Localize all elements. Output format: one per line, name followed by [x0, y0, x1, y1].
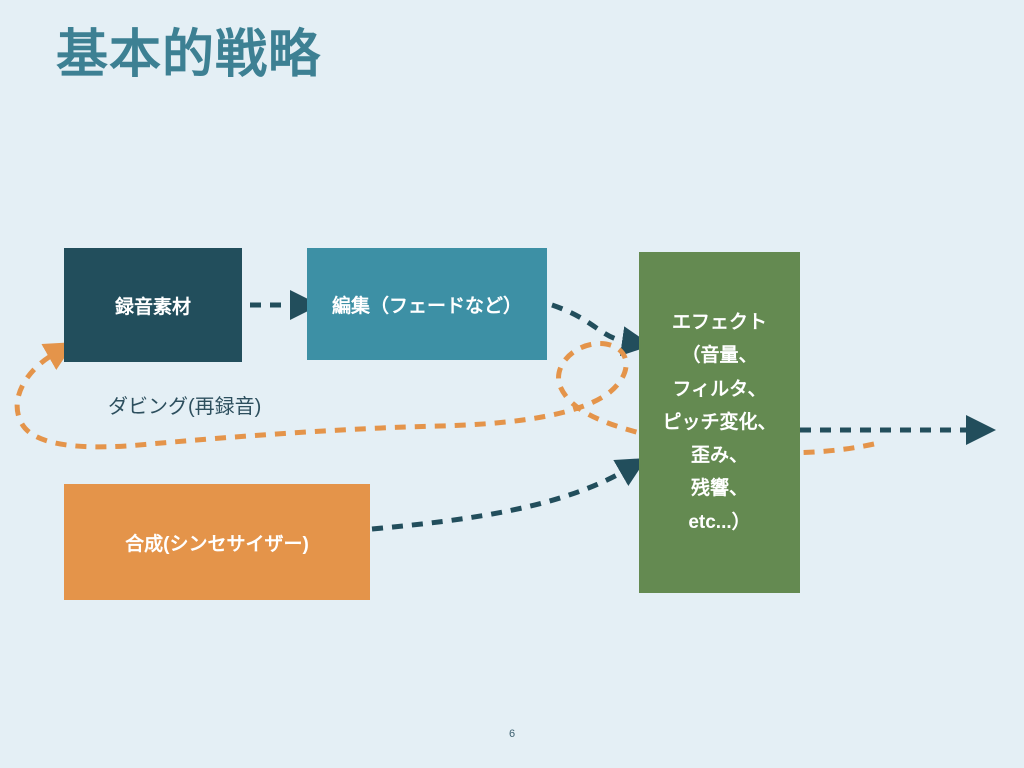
- node-editing[interactable]: 編集（フェードなど）: [307, 248, 547, 360]
- slide-canvas: 基本的戦略 録音素材: [0, 0, 1024, 768]
- node-recording[interactable]: 録音素材: [64, 248, 242, 362]
- node-synthesis[interactable]: 合成(シンセサイザー): [64, 484, 370, 600]
- node-recording-label: 録音素材: [115, 292, 191, 319]
- node-synthesis-label: 合成(シンセサイザー): [125, 529, 309, 556]
- node-editing-label: 編集（フェードなど）: [332, 291, 522, 318]
- node-effects-label: エフェクト （音量、 フィルタ、 ピッチ変化、 歪み、 残響、 etc...）: [662, 306, 776, 539]
- node-effects[interactable]: エフェクト （音量、 フィルタ、 ピッチ変化、 歪み、 残響、 etc...）: [639, 252, 800, 593]
- arrow-synthesis-to-effects: [372, 470, 626, 529]
- arrow-layer: [0, 0, 1024, 768]
- dubbing-label: ダビング(再録音): [108, 390, 261, 419]
- arrow-editing-to-effects: [552, 305, 628, 342]
